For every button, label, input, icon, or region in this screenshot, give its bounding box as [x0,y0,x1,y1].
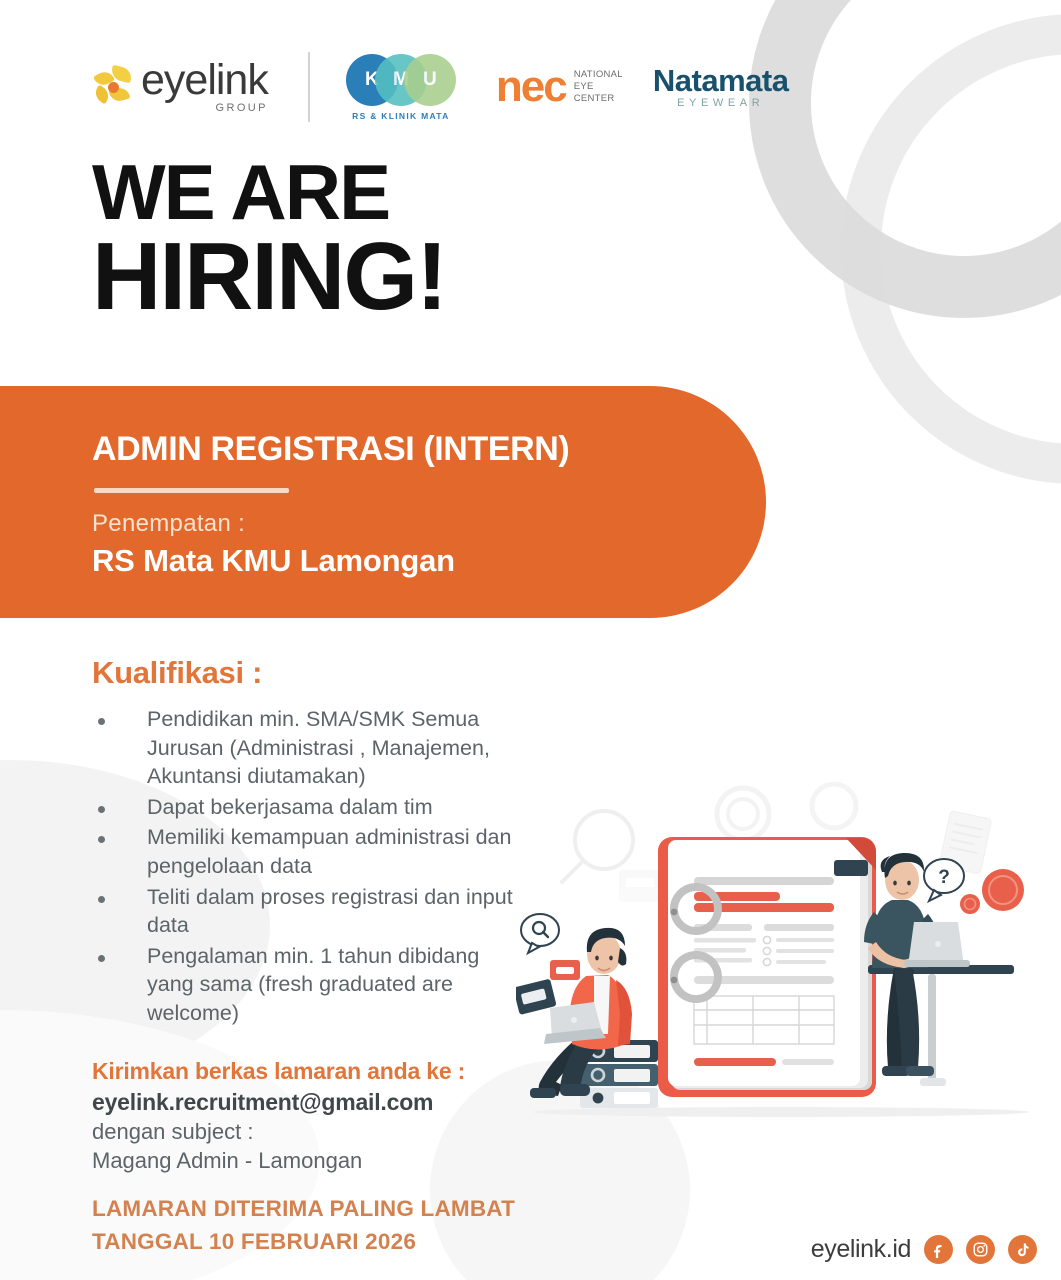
footer-social-bar: eyelink.id [811,1235,1037,1264]
eyelink-subtext: GROUP [216,102,268,114]
deadline-notice: LAMARAN DITERIMA PALING LAMBAT TANGGAL 1… [92,1193,515,1258]
kmu-subtext: RS & KLINIK MATA [352,111,449,121]
placement-label: Penempatan : [92,510,766,538]
logo-bar: eyelink GROUP K M U RS & KLINIK MATA nec… [94,48,788,126]
nec-sub-line1: NATIONAL [574,69,623,80]
logo-natamata: Natamata EYEWEAR [653,65,789,109]
deadline-line-1: LAMARAN DITERIMA PALING LAMBAT [92,1193,515,1226]
placement-value: RS Mata KMU Lamongan [92,543,766,579]
qualifications-list: Pendidikan min. SMA/SMK Semua Jurusan (A… [92,705,522,1028]
instagram-icon[interactable] [966,1235,995,1264]
nec-sub-line2: EYE [574,81,594,92]
logo-eyelink: eyelink GROUP [94,60,268,115]
headline-line-2: HIRING! [92,233,446,321]
list-item: Pengalaman min. 1 tahun dibidang yang sa… [92,942,522,1028]
eyelink-wordmark: eyelink [141,60,268,101]
job-title-banner: ADMIN REGISTRASI (INTERN) Penempatan : R… [0,386,766,618]
qualifications-title: Kualifikasi : [92,655,522,691]
nec-wordmark: nec [496,69,566,104]
list-item: Memiliki kemampuan administrasi dan peng… [92,823,522,880]
natamata-subtext: EYEWEAR [653,97,789,109]
apply-subject-value: Magang Admin - Lamongan [92,1148,465,1174]
list-item: Teliti dalam proses registrasi dan input… [92,883,522,940]
decorative-ring-top-right [749,0,1061,318]
svg-text:?: ? [938,867,950,888]
list-item: Pendidikan min. SMA/SMK Semua Jurusan (A… [92,705,522,791]
logo-kmu: K M U RS & KLINIK MATA [346,54,456,121]
apply-heading: Kirimkan berkas lamaran anda ke : [92,1058,465,1085]
kmu-circles-icon: K M U [346,54,456,106]
decorative-ring-top-right-outer [841,14,1061,484]
job-role-title: ADMIN REGISTRASI (INTERN) [92,430,766,469]
logo-divider [308,52,310,122]
office-registration-illustration: ? [516,782,1046,1132]
natamata-wordmark: Natamata [653,65,789,96]
apply-subject-label: dengan subject : [92,1119,465,1145]
kmu-letter-u: U [404,54,456,106]
headline-line-1: WE ARE [92,157,446,229]
deadline-line-2: TANGGAL 10 FEBRUARI 2026 [92,1226,515,1259]
page-headline: WE ARE HIRING! [92,157,446,321]
application-instructions: Kirimkan berkas lamaran anda ke : eyelin… [92,1058,465,1174]
qualifications-section: Kualifikasi : Pendidikan min. SMA/SMK Se… [92,655,522,1030]
social-handle: eyelink.id [811,1235,911,1264]
banner-divider [94,488,289,493]
apply-email[interactable]: eyelink.recruitment@gmail.com [92,1089,465,1116]
nec-sub-line3: CENTER [574,93,615,104]
list-item: Dapat bekerjasama dalam tim [92,793,522,822]
nec-subtext: NATIONAL EYE CENTER [574,69,623,105]
eyelink-flower-icon [94,66,134,108]
facebook-icon[interactable] [924,1235,953,1264]
tiktok-icon[interactable] [1008,1235,1037,1264]
logo-nec: nec NATIONAL EYE CENTER [496,69,623,105]
